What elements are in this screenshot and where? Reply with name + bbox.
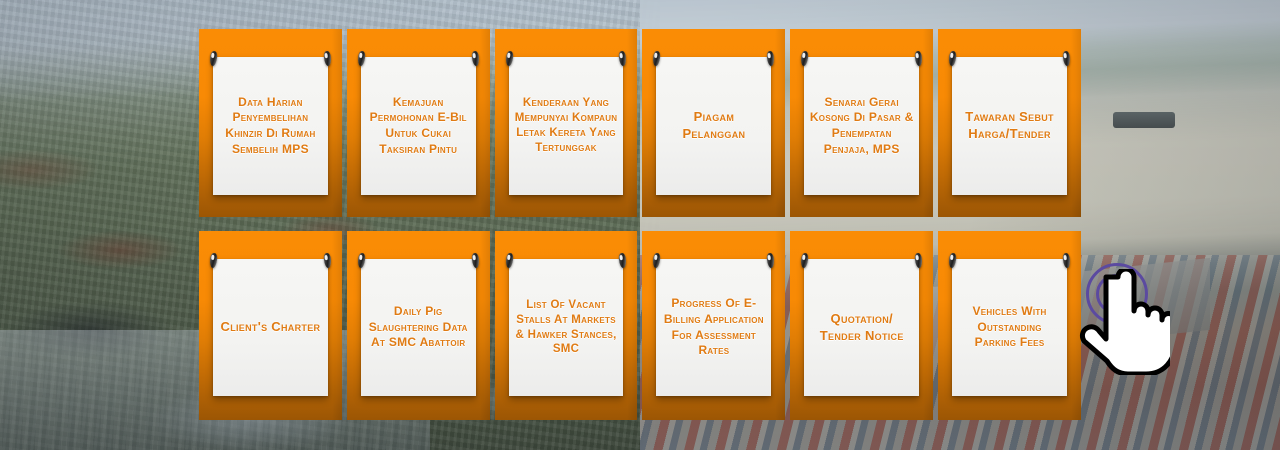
paper-clip-icon <box>948 253 957 269</box>
paper-clip-icon <box>323 51 332 67</box>
card-label: Kenderaan Yang Mempunyai Kompaun Letak K… <box>513 96 620 156</box>
card-label: Client's Charter <box>221 319 321 336</box>
paper-clip-icon <box>505 51 514 67</box>
quick-link-card-12[interactable]: Vehicles With Outstanding Parking Fees <box>938 231 1081 420</box>
card-label: Tawaran Sebut Harga/Tender <box>956 109 1063 143</box>
page-stage: Data Harian Penyembelihan Khinzir Di Rum… <box>0 0 1280 450</box>
card-label: Daily Pig Slaughtering Data At SMC Abatt… <box>365 304 472 351</box>
quick-link-card-10[interactable]: Progress Of e-Billing Application For As… <box>642 231 785 420</box>
paper-clip-icon <box>471 51 480 67</box>
quick-link-card-9[interactable]: List Of Vacant Stalls At Markets & Hawke… <box>495 231 638 420</box>
paper-clip-icon <box>471 253 480 269</box>
quick-link-card-2[interactable]: Kemajuan Permohonan e-Bil Untuk Cukai Ta… <box>347 29 490 217</box>
paper-clip-icon <box>767 51 776 67</box>
paper-clip-icon <box>914 253 923 269</box>
card-paper-sheet: Senarai Gerai Kosong di Pasar & Penempat… <box>804 57 919 195</box>
grid-row-top: Data Harian Penyembelihan Khinzir Di Rum… <box>199 29 1081 217</box>
paper-clip-icon <box>209 253 218 269</box>
card-label: Progress Of e-Billing Application For As… <box>660 296 767 358</box>
quick-link-card-1[interactable]: Data Harian Penyembelihan Khinzir Di Rum… <box>199 29 342 217</box>
card-paper-sheet: Daily Pig Slaughtering Data At SMC Abatt… <box>361 259 476 396</box>
card-paper-sheet: Quotation/ Tender Notice <box>804 259 919 396</box>
paper-clip-icon <box>1062 253 1071 269</box>
paper-clip-icon <box>619 253 628 269</box>
paper-clip-icon <box>1062 51 1071 67</box>
card-paper-sheet: Kemajuan Permohonan e-Bil Untuk Cukai Ta… <box>361 57 476 195</box>
grid-row-bottom: Client's Charter Daily Pig Slaughtering … <box>199 231 1081 420</box>
quick-link-card-8[interactable]: Daily Pig Slaughtering Data At SMC Abatt… <box>347 231 490 420</box>
paper-clip-icon <box>323 253 332 269</box>
card-label: Piagam Pelanggan <box>660 109 767 143</box>
paper-clip-icon <box>357 253 366 269</box>
quick-link-card-7[interactable]: Client's Charter <box>199 231 342 420</box>
card-label: Data Harian Penyembelihan Khinzir Di Rum… <box>217 95 324 157</box>
card-paper-sheet: Tawaran Sebut Harga/Tender <box>952 57 1067 195</box>
card-paper-sheet: Piagam Pelanggan <box>656 57 771 195</box>
card-label: List Of Vacant Stalls At Markets & Hawke… <box>513 298 620 358</box>
quick-link-card-6[interactable]: Tawaran Sebut Harga/Tender <box>938 29 1081 217</box>
quick-links-grid: Data Harian Penyembelihan Khinzir Di Rum… <box>199 29 1081 420</box>
quick-link-card-4[interactable]: Piagam Pelanggan <box>642 29 785 217</box>
card-paper-sheet: Data Harian Penyembelihan Khinzir Di Rum… <box>213 57 328 195</box>
paper-clip-icon <box>357 51 366 67</box>
card-paper-sheet: Progress Of e-Billing Application For As… <box>656 259 771 396</box>
card-paper-sheet: List Of Vacant Stalls At Markets & Hawke… <box>509 259 624 396</box>
paper-clip-icon <box>619 51 628 67</box>
card-paper-sheet: Kenderaan Yang Mempunyai Kompaun Letak K… <box>509 57 624 195</box>
paper-clip-icon <box>209 51 218 67</box>
card-paper-sheet: Client's Charter <box>213 259 328 396</box>
card-label: Kemajuan Permohonan e-Bil Untuk Cukai Ta… <box>365 95 472 157</box>
card-paper-sheet: Vehicles With Outstanding Parking Fees <box>952 259 1067 396</box>
quick-link-card-3[interactable]: Kenderaan Yang Mempunyai Kompaun Letak K… <box>495 29 638 217</box>
card-label: Vehicles With Outstanding Parking Fees <box>956 304 1063 351</box>
paper-clip-icon <box>653 51 662 67</box>
paper-clip-icon <box>505 253 514 269</box>
paper-clip-icon <box>948 51 957 67</box>
paper-clip-icon <box>767 253 776 269</box>
paper-clip-icon <box>801 253 810 269</box>
quick-link-card-5[interactable]: Senarai Gerai Kosong di Pasar & Penempat… <box>790 29 933 217</box>
paper-clip-icon <box>653 253 662 269</box>
quick-link-card-11[interactable]: Quotation/ Tender Notice <box>790 231 933 420</box>
paper-clip-icon <box>801 51 810 67</box>
card-label: Quotation/ Tender Notice <box>808 311 915 345</box>
paper-clip-icon <box>914 51 923 67</box>
card-label: Senarai Gerai Kosong di Pasar & Penempat… <box>808 95 915 157</box>
